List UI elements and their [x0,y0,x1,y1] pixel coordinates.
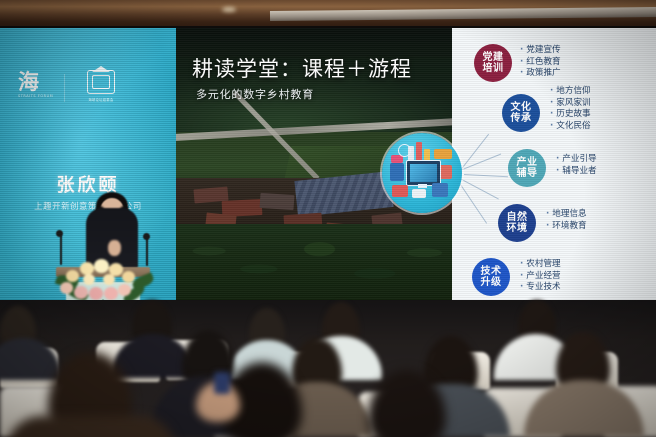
bullet-item: 专业技术 [520,282,561,294]
bullet-item: 家风家训 [550,98,591,110]
ceiling-spotlight [222,7,236,12]
speaker-name: 张欣颐 [0,171,176,197]
flower [122,271,135,283]
node-bullets-industry-guidance: 产业引导 辅导业者 [556,154,597,177]
emblem-icon [87,70,115,94]
node-culture-heritage[interactable]: 文化 传承 [502,94,540,132]
hub-gauge-icon [398,144,411,157]
connector-line [457,180,487,224]
speaker-organization: 上趣开新创意策划有限公司 [0,200,176,212]
flower [80,262,94,275]
node-label-line1: 自然 [507,212,528,224]
node-technology-upgrade[interactable]: 技术 升级 [472,258,510,296]
flower [83,274,95,285]
logo-mark-hai: 海 [18,72,60,92]
speaker-hand [108,240,121,256]
bullet-item: 辅导业者 [556,166,597,178]
bullet-item: 产业引导 [556,154,597,166]
bullet-item: 政策推广 [520,68,561,80]
hub-card [392,185,408,197]
phone [214,372,230,394]
microphone-head [143,233,150,240]
flower [60,282,73,294]
flower [118,284,131,296]
forum-emblem-logo: 海峡论坛组委会 [74,70,128,108]
node-bullets-party-training: 党建宣传 红色教育 政策推广 [520,45,561,80]
bullet-item: 环境教育 [546,221,587,233]
flower-arrangement [58,256,152,302]
node-industry-guidance[interactable]: 产业 辅导 [508,149,546,187]
bullet-item: 地理信息 [546,209,587,221]
hub-bar [416,142,422,162]
flower [103,274,115,285]
node-bullets-culture-heritage: 地方信仰 家风家训 历史故事 文化民俗 [550,86,591,132]
bullet-item: 历史故事 [550,109,591,121]
emblem-caption: 海峡论坛组委会 [74,97,128,102]
hub-card [412,189,426,198]
bullet-item: 文化民俗 [550,121,591,133]
conference-photo: 海 STRAITS FORUM 海峡论坛组委会 张欣颐 上趣开新创意策划有限公司 [0,0,656,437]
slide-subtitle: 多元化的数字乡村教育 [196,86,314,102]
flower [66,270,79,282]
bullet-item: 地方信仰 [550,86,591,98]
node-bullets-technology-upgrade: 农村管理 产业经营 专业技术 [520,259,561,294]
node-natural-environment[interactable]: 自然 环境 [498,204,536,242]
hub-card [390,163,404,181]
node-party-training[interactable]: 党建 培训 [474,44,512,82]
logo-caption-straits: STRAITS FORUM [18,94,60,98]
flower [94,259,109,273]
logo-divider [64,74,65,102]
ceiling-light-strip [270,7,656,21]
bullet-item: 党建宣传 [520,45,561,57]
flower [74,286,88,299]
haixia-forum-logo: 海 STRAITS FORUM [18,72,60,106]
node-label-line1: 文化 [511,102,532,114]
node-label-line2: 环境 [507,223,528,235]
bullet-item: 农村管理 [520,259,561,271]
node-bullets-natural-environment: 地理信息 环境教育 [546,209,587,232]
microphone-head [56,230,63,237]
hub-card [434,149,452,159]
connector-line [464,174,508,177]
node-label-line1: 党建 [483,52,504,64]
node-label-line1: 技术 [481,266,502,278]
bullet-item: 红色教育 [520,57,561,69]
presentation-slide: 耕读学堂：课程＋游程 多元化的数字乡村教育 党建 培训 [176,28,656,314]
digital-village-illustration [382,133,462,213]
node-label-line2: 培训 [483,63,504,75]
audience-shoulders [6,416,176,437]
node-label-line1: 产业 [517,157,538,169]
connector-line [460,178,499,200]
bullet-item: 产业经营 [520,271,561,283]
flower [89,287,103,300]
node-label-line2: 传承 [511,113,532,125]
flower [104,287,118,300]
node-label-line2: 升级 [481,277,502,289]
node-label-line2: 辅导 [517,168,538,180]
logo-group: 海 STRAITS FORUM 海峡论坛组委会 [14,72,124,108]
hub-monitor-stand [418,184,427,188]
hub-card [432,183,448,197]
slide-title: 耕读学堂：课程＋游程 [192,53,412,83]
